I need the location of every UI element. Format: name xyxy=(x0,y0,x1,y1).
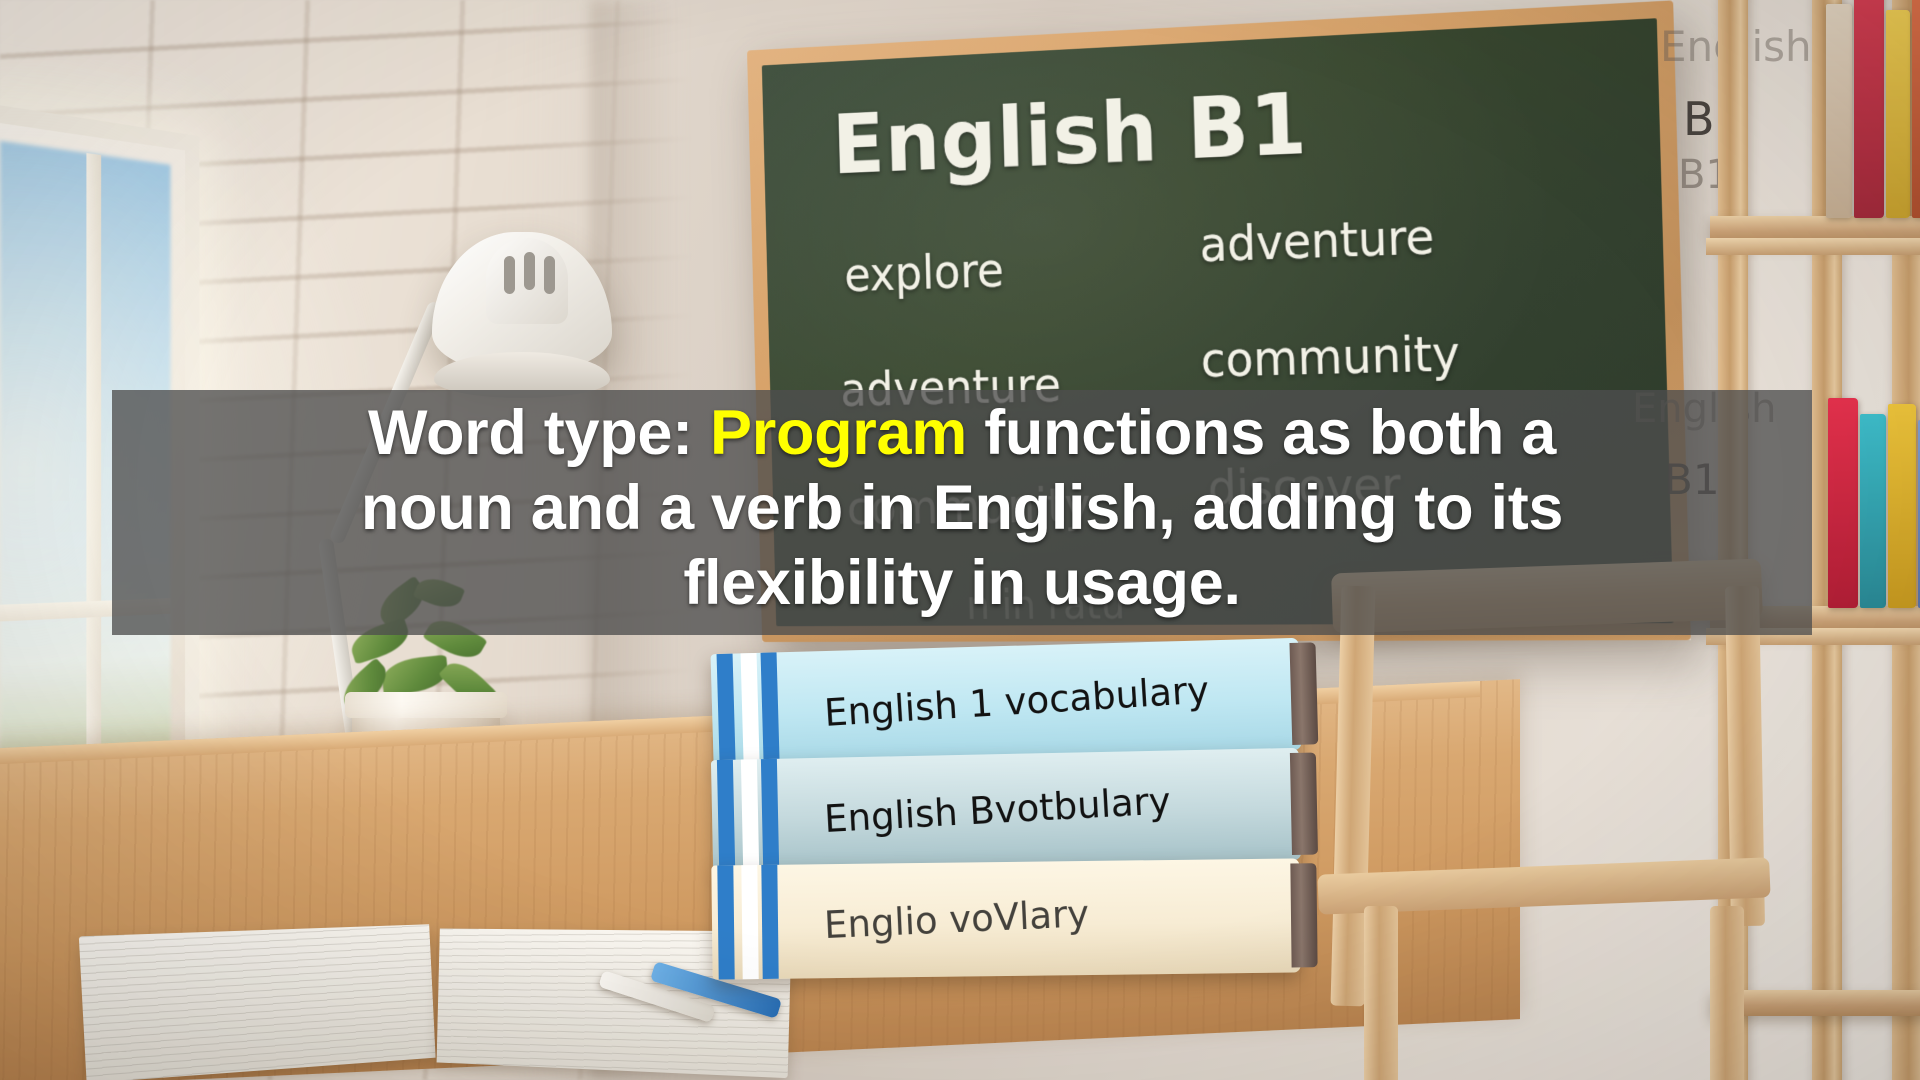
shelf-book xyxy=(1826,4,1852,218)
book-item: English Bvotbulary xyxy=(711,748,1301,872)
book-pages xyxy=(1290,863,1317,967)
lamp-vent xyxy=(504,256,515,294)
shelf-book xyxy=(1886,10,1910,218)
shelf-book xyxy=(1828,398,1858,608)
wooden-chair xyxy=(1318,566,1778,1080)
chalkboard-word-explore: explore xyxy=(844,244,1005,303)
subtitle-line-1: Word type: Program functions as both a xyxy=(136,396,1788,471)
book-spine-stripe xyxy=(717,654,736,766)
chalkboard-title: English B1 xyxy=(831,74,1309,193)
book-spine-stripe xyxy=(761,865,778,979)
lamp-vent xyxy=(544,256,555,294)
chair-leg-back xyxy=(1710,906,1744,1080)
subtitle-highlight-word: Program xyxy=(710,398,967,468)
book-spine-stripe xyxy=(741,653,760,765)
notebook-page-left xyxy=(79,924,436,1080)
book-item: English 1 vocabulary xyxy=(711,638,1302,766)
subtitle-line-3: flexibility in usage. xyxy=(136,546,1788,621)
lamp-vent xyxy=(524,252,535,290)
chair-leg-front xyxy=(1364,906,1398,1080)
classroom-scene: English B1 explore adventure adventure c… xyxy=(0,0,1920,1080)
book-spine-stripe xyxy=(741,865,758,979)
shelf-book xyxy=(1888,404,1916,608)
book-spine-stripe xyxy=(717,760,735,872)
subtitle-line1-rest: functions as both a xyxy=(967,398,1556,468)
shelf-book xyxy=(1860,414,1886,608)
plant-pot-rim xyxy=(345,692,507,718)
book-item: Englio voVlary xyxy=(711,858,1300,979)
book-pages xyxy=(1289,642,1318,745)
subtitle-overlay: Word type: Program functions as both a n… xyxy=(112,390,1812,635)
chalkboard-word-community-1: community xyxy=(1200,326,1460,388)
subtitle-prefix: Word type: xyxy=(368,398,710,468)
book-spine-stripe xyxy=(741,759,759,871)
shelf-book xyxy=(1912,0,1920,218)
chalkboard-word-adventure-1: adventure xyxy=(1199,209,1435,273)
book-spine-stripe xyxy=(761,652,780,764)
book-pages xyxy=(1290,752,1318,855)
book-spine-stripe xyxy=(761,759,779,871)
subtitle-line-2: noun and a verb in English, adding to it… xyxy=(136,471,1788,546)
shelf-book xyxy=(1854,0,1884,218)
book-stack: English 1 vocabulary English Bvotbulary … xyxy=(712,646,1312,1018)
book-spine-stripe xyxy=(717,865,734,979)
shelf-board-top xyxy=(1706,238,1920,255)
